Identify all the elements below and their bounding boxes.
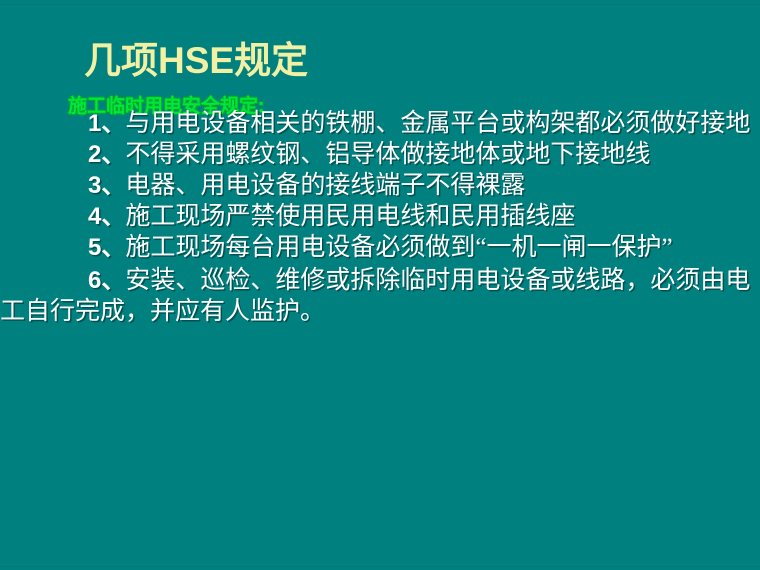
list-item-text: 与用电设备相关的铁棚、金属平台或构架都必须做好接地 xyxy=(125,110,750,137)
list-item-number: 3、 xyxy=(88,172,125,199)
list-item-number: 6、 xyxy=(88,267,125,294)
list-item: 2、不得采用螺纹钢、铝导体做接地体或地下接地线 xyxy=(0,139,760,170)
bottom-divider xyxy=(0,566,760,567)
regulation-list: 1、与用电设备相关的铁棚、金属平台或构架都必须做好接地 2、不得采用螺纹钢、铝导… xyxy=(0,108,760,327)
top-divider xyxy=(0,4,760,5)
list-item: 5、施工现场每台用电设备必须做到“一机一闸一保护” xyxy=(0,232,760,263)
list-item: 4、施工现场严禁使用民用电线和民用插线座 xyxy=(0,201,760,232)
list-item-number: 5、 xyxy=(88,234,125,261)
list-item: 3、电器、用电设备的接线端子不得裸露 xyxy=(0,170,760,201)
list-item-number: 1、 xyxy=(88,110,125,137)
page-title: 几项HSE规定 xyxy=(84,39,308,83)
list-item-text: 施工现场严禁使用民用电线和民用插线座 xyxy=(125,203,575,230)
slide-canvas: 几项HSE规定 施工临时用电安全规定: 1、与用电设备相关的铁棚、金属平台或构架… xyxy=(0,0,760,570)
list-item-number: 2、 xyxy=(88,141,125,168)
list-item: 6、安装、巡检、维修或拆除临时用电设备或线路，必须由电工自行完成，并应有人监护。 xyxy=(0,265,760,327)
list-item-text: 施工现场每台用电设备必须做到“一机一闸一保护” xyxy=(125,234,672,261)
list-item-number: 4、 xyxy=(88,203,125,230)
list-item-text: 电器、用电设备的接线端子不得裸露 xyxy=(125,172,525,199)
list-item-text: 不得采用螺纹钢、铝导体做接地体或地下接地线 xyxy=(125,141,650,168)
list-item: 1、与用电设备相关的铁棚、金属平台或构架都必须做好接地 xyxy=(0,108,760,139)
